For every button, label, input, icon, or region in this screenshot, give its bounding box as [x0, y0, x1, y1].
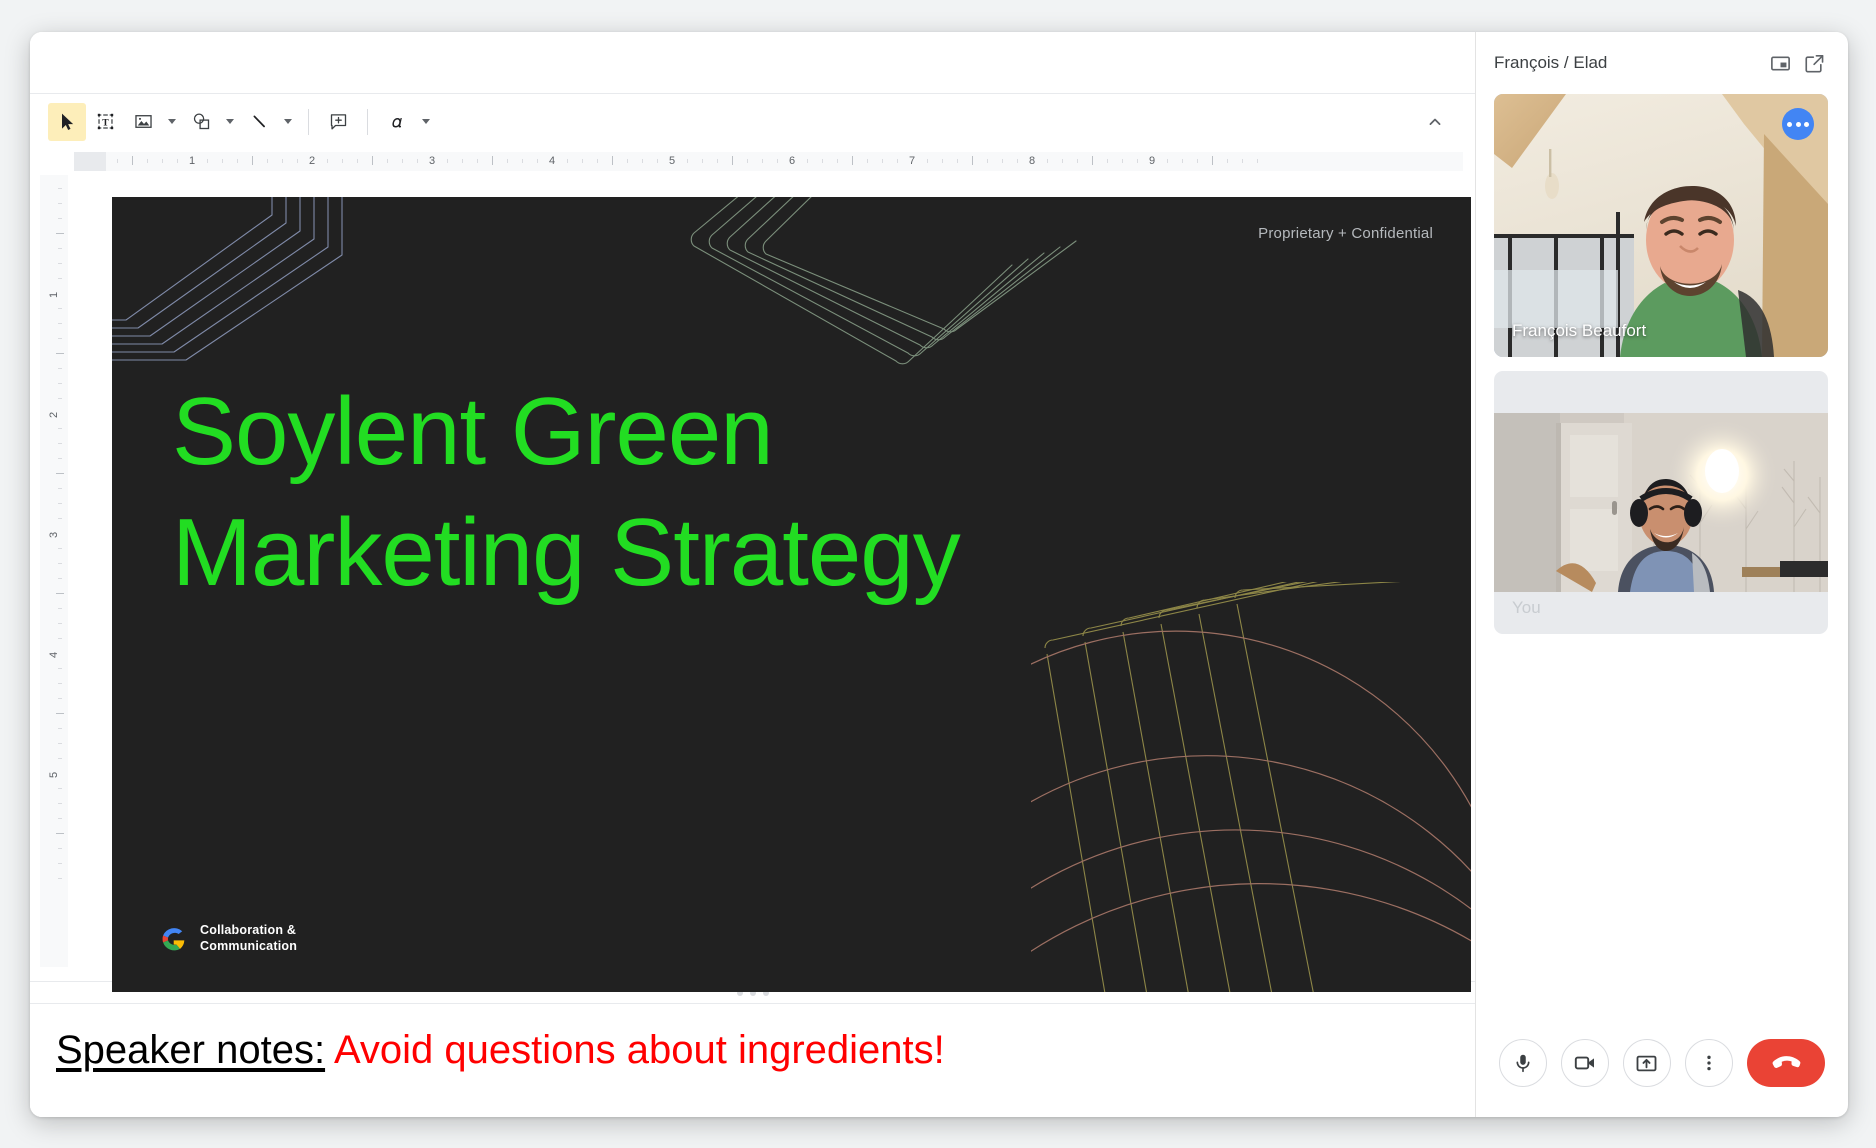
- ruler-tick: [567, 159, 568, 163]
- hang-up-button[interactable]: [1747, 1039, 1825, 1087]
- ruler-tick: [717, 159, 718, 163]
- ruler-tick: [58, 698, 62, 699]
- participant-tile-francois-beaufort[interactable]: François Beaufort: [1494, 94, 1828, 357]
- ruler-tick: [58, 848, 62, 849]
- ruler-tick: [58, 248, 62, 249]
- phone-hangup-icon: [1771, 1048, 1801, 1078]
- ruler-tick: [58, 578, 62, 579]
- ruler-number: 2: [48, 412, 60, 418]
- ruler-tick: [58, 803, 62, 804]
- ruler-tick: [58, 368, 62, 369]
- ruler-tick: [207, 159, 208, 163]
- ruler-tick: [117, 159, 118, 163]
- ruler-tick: [852, 156, 853, 165]
- meet-panel: François / Elad: [1476, 32, 1847, 1117]
- slide-logo-text: Collaboration & Communication: [200, 923, 297, 954]
- add-comment-tool[interactable]: [319, 103, 357, 141]
- ruler-tick: [58, 638, 62, 639]
- ruler-tick: [58, 218, 62, 219]
- ruler-tick: [252, 156, 253, 165]
- more-dot: [1804, 122, 1809, 127]
- image-icon: [133, 111, 154, 132]
- ruler-tick: [612, 156, 613, 165]
- speaker-notes-pane[interactable]: Speaker notes: Avoid questions about ing…: [30, 1003, 1475, 1117]
- speaker-notes-body: Avoid questions about ingredients!: [334, 1028, 945, 1072]
- ruler-tick: [58, 818, 62, 819]
- ruler-tick: [58, 743, 62, 744]
- editor-toolbar: T: [30, 93, 1475, 149]
- ruler-tick: [1107, 159, 1108, 163]
- curve-pen-tool[interactable]: 𝛼: [378, 103, 416, 141]
- ruler-tick: [58, 548, 62, 549]
- open-in-new-icon: [1803, 52, 1826, 75]
- ruler-tick: [342, 159, 343, 163]
- more-vertical-icon: [1699, 1053, 1719, 1073]
- ruler-tick: [58, 863, 62, 864]
- ruler-tick: [327, 159, 328, 163]
- ruler-tick: [1182, 159, 1183, 163]
- ruler-tick: [222, 159, 223, 163]
- ruler-tick: [807, 159, 808, 163]
- ruler-tick: [58, 788, 62, 789]
- ruler-tick: [267, 159, 268, 163]
- ruler-tick: [1257, 159, 1258, 163]
- ruler-tick: [58, 623, 62, 624]
- ruler-tick: [58, 443, 62, 444]
- ruler-tick: [462, 159, 463, 163]
- ruler-tick: [56, 833, 64, 834]
- ruler-tick: [837, 159, 838, 163]
- ruler-tick: [357, 159, 358, 163]
- ruler-tick: [56, 353, 64, 354]
- ruler-tick: [942, 159, 943, 163]
- insert-image-dropdown[interactable]: [162, 103, 182, 141]
- svg-text:𝛼: 𝛼: [392, 111, 402, 131]
- ruler-number: 4: [48, 652, 60, 658]
- ruler-number: 5: [48, 772, 60, 778]
- ruler-tick: [58, 338, 62, 339]
- participant-tile-you[interactable]: You: [1494, 371, 1828, 634]
- ruler-tick: [1242, 159, 1243, 163]
- canvas-area: 12345: [30, 175, 1475, 981]
- shape-tool[interactable]: [182, 103, 220, 141]
- decoration-bottom-right-fan: [1031, 582, 1471, 992]
- ruler-tick: [58, 878, 62, 879]
- ruler-tick: [747, 159, 748, 163]
- ruler-tick: [58, 203, 62, 204]
- more-options-button[interactable]: [1685, 1039, 1733, 1087]
- ruler-row: 123456789: [30, 149, 1475, 175]
- ruler-tick: [58, 323, 62, 324]
- horizontal-ruler[interactable]: 123456789: [74, 149, 1475, 175]
- cursor-arrow-icon: [57, 112, 77, 132]
- ruler-tick: [627, 159, 628, 163]
- ruler-tick: [1167, 159, 1168, 163]
- ruler-tick: [687, 159, 688, 163]
- ruler-tick: [732, 156, 733, 165]
- ruler-tick: [762, 159, 763, 163]
- chevron-up-icon: [1425, 112, 1445, 132]
- decoration-top-left-lines: [112, 197, 464, 365]
- ruler-tick: [58, 428, 62, 429]
- ruler-tick: [657, 159, 658, 163]
- video-feed-francois: [1494, 94, 1828, 357]
- participant-name-label: You: [1512, 598, 1541, 618]
- ruler-tick: [1077, 159, 1078, 163]
- participant-name-label: François Beaufort: [1512, 321, 1646, 341]
- ruler-tick: [58, 458, 62, 459]
- ruler-tick: [56, 593, 64, 594]
- ruler-tick: [1047, 159, 1048, 163]
- tile-more-options-button[interactable]: [1782, 108, 1814, 140]
- meet-controls-bar: [1476, 1009, 1847, 1117]
- ruler-tick: [58, 608, 62, 609]
- ruler-tick: [972, 156, 973, 165]
- open-in-new-button[interactable]: [1797, 46, 1831, 80]
- ruler-tick: [1227, 159, 1228, 163]
- ruler-tick: [58, 668, 62, 669]
- google-c-logo-icon: [156, 922, 190, 956]
- more-dot: [1787, 122, 1792, 127]
- confidential-label: Proprietary + Confidential: [1258, 225, 1433, 242]
- ruler-number: 3: [429, 153, 435, 169]
- ruler-tick: [402, 159, 403, 163]
- meet-call-title: François / Elad: [1494, 53, 1763, 73]
- ruler-tick: [58, 728, 62, 729]
- ruler-tick: [58, 398, 62, 399]
- speaker-notes-label: Speaker notes:: [56, 1028, 325, 1072]
- ruler-number: 8: [1029, 153, 1035, 169]
- insert-image-tool[interactable]: [124, 103, 162, 141]
- ruler-number: 3: [48, 532, 60, 538]
- microphone-icon: [1512, 1052, 1534, 1074]
- microphone-button[interactable]: [1499, 1039, 1547, 1087]
- ruler-tick: [1002, 159, 1003, 163]
- present-screen-button[interactable]: [1623, 1039, 1671, 1087]
- slide[interactable]: Proprietary + Confidential Soylent Green…: [112, 197, 1471, 992]
- ruler-tick: [237, 159, 238, 163]
- ruler-number: 7: [909, 153, 915, 169]
- text-box-tool[interactable]: T: [86, 103, 124, 141]
- ruler-tick: [597, 159, 598, 163]
- slide-logo: Collaboration & Communication: [156, 922, 297, 956]
- editor-top-strip: [30, 32, 1475, 93]
- toolbar-divider-2: [367, 109, 368, 135]
- ruler-tick: [58, 758, 62, 759]
- ruler-tick: [867, 159, 868, 163]
- ruler-number: 1: [48, 292, 60, 298]
- ruler-tick: [58, 383, 62, 384]
- slides-editor-pane: T: [30, 32, 1476, 1117]
- speaker-notes-text: Speaker notes: Avoid questions about ing…: [56, 1026, 1449, 1074]
- ruler-tick: [582, 159, 583, 163]
- svg-text:T: T: [102, 118, 109, 129]
- more-dot: [1796, 122, 1801, 127]
- ruler-tick: [58, 278, 62, 279]
- ruler-tick: [1197, 159, 1198, 163]
- toolbar-divider-1: [308, 109, 309, 135]
- ruler-tick: [1122, 159, 1123, 163]
- ruler-tick: [882, 159, 883, 163]
- line-dropdown[interactable]: [278, 103, 298, 141]
- ruler-tick: [897, 159, 898, 163]
- add-comment-icon: [328, 111, 349, 132]
- picture-in-picture-icon: [1769, 52, 1792, 75]
- ruler-tick: [1062, 159, 1063, 163]
- ruler-tick: [1017, 159, 1018, 163]
- slide-canvas[interactable]: Proprietary + Confidential Soylent Green…: [74, 175, 1475, 981]
- ruler-tick: [58, 263, 62, 264]
- shape-dropdown[interactable]: [220, 103, 240, 141]
- ruler-tick: [282, 159, 283, 163]
- ruler-tick: [58, 563, 62, 564]
- ruler-number: 2: [309, 153, 315, 169]
- ruler-number: 6: [789, 153, 795, 169]
- ruler-tick: [58, 683, 62, 684]
- ruler-number: 9: [1149, 153, 1155, 169]
- ruler-tick: [1092, 156, 1093, 165]
- ruler-tick: [58, 503, 62, 504]
- ruler-tick: [927, 159, 928, 163]
- video-feed-you: [1494, 413, 1828, 592]
- ruler-tick: [822, 159, 823, 163]
- ruler-number: 4: [549, 153, 555, 169]
- ruler-tick: [957, 159, 958, 163]
- ruler-number: 1: [189, 153, 195, 169]
- ruler-tick: [537, 159, 538, 163]
- ruler-tick: [58, 308, 62, 309]
- present-screen-icon: [1635, 1052, 1658, 1075]
- shape-icon: [191, 111, 212, 132]
- app-window: T: [30, 32, 1848, 1117]
- ruler-tick: [507, 159, 508, 163]
- ruler-tick: [777, 159, 778, 163]
- camera-icon: [1573, 1051, 1597, 1075]
- line-tool[interactable]: [240, 103, 278, 141]
- participant-tiles: François Beaufort: [1476, 94, 1847, 1009]
- ruler-tick: [642, 159, 643, 163]
- ruler-tick: [56, 473, 64, 474]
- ruler-tick: [447, 159, 448, 163]
- ruler-tick: [177, 159, 178, 163]
- ruler-tick: [58, 488, 62, 489]
- curve-dropdown[interactable]: [416, 103, 436, 141]
- ruler-tick: [147, 159, 148, 163]
- ruler-corner: [30, 149, 74, 175]
- select-tool[interactable]: [48, 103, 86, 141]
- vertical-ruler[interactable]: 12345: [30, 175, 74, 981]
- ruler-tick: [417, 159, 418, 163]
- ruler-tick: [1212, 156, 1213, 165]
- ruler-tick: [297, 159, 298, 163]
- collapse-toolbar-button[interactable]: [1417, 104, 1453, 140]
- ruler-tick: [987, 159, 988, 163]
- ruler-tick: [492, 156, 493, 165]
- decoration-top-center-frames: [682, 197, 1082, 385]
- ruler-tick: [56, 233, 64, 234]
- ruler-tick: [522, 159, 523, 163]
- ruler-tick: [58, 518, 62, 519]
- ruler-tick: [387, 159, 388, 163]
- text-box-icon: T: [95, 111, 116, 132]
- slide-title[interactable]: Soylent Green Marketing Strategy: [172, 372, 1232, 614]
- picture-in-picture-button[interactable]: [1763, 46, 1797, 80]
- ruler-tick: [162, 159, 163, 163]
- ruler-tick: [132, 156, 133, 165]
- ruler-number: 5: [669, 153, 675, 169]
- ruler-tick: [58, 188, 62, 189]
- meet-header: François / Elad: [1476, 32, 1847, 94]
- camera-button[interactable]: [1561, 1039, 1609, 1087]
- ruler-tick: [702, 159, 703, 163]
- ruler-tick: [477, 159, 478, 163]
- line-icon: [249, 111, 270, 132]
- ruler-tick: [372, 156, 373, 165]
- ruler-tick: [56, 713, 64, 714]
- curve-icon: 𝛼: [386, 111, 408, 133]
- ruler-tick: [1137, 159, 1138, 163]
